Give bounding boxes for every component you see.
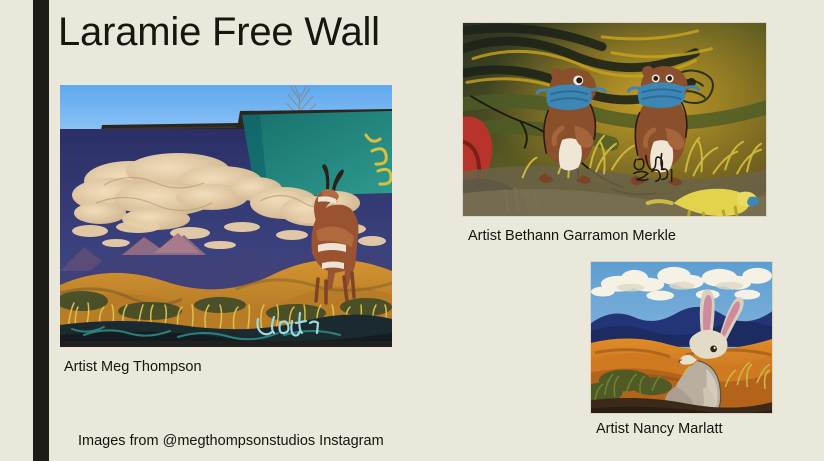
artwork-jackrabbit[interactable] (590, 261, 773, 414)
caption-artist-meg-thompson: Artist Meg Thompson (64, 358, 202, 376)
caption-artist-nancy-marlatt: Artist Nancy Marlatt (596, 420, 723, 438)
left-accent-bar (33, 0, 49, 461)
page-title: Laramie Free Wall (58, 8, 380, 56)
caption-artist-bethann-garramon-merkle: Artist Bethann Garramon Merkle (468, 227, 676, 245)
slide-canvas: Laramie Free Wall (0, 0, 824, 461)
artwork-prairie-dogs-masked[interactable] (462, 22, 767, 217)
caption-image-credit: Images from @megthompsonstudios Instagra… (78, 432, 384, 450)
artwork-mural-pronghorn[interactable] (60, 85, 392, 347)
